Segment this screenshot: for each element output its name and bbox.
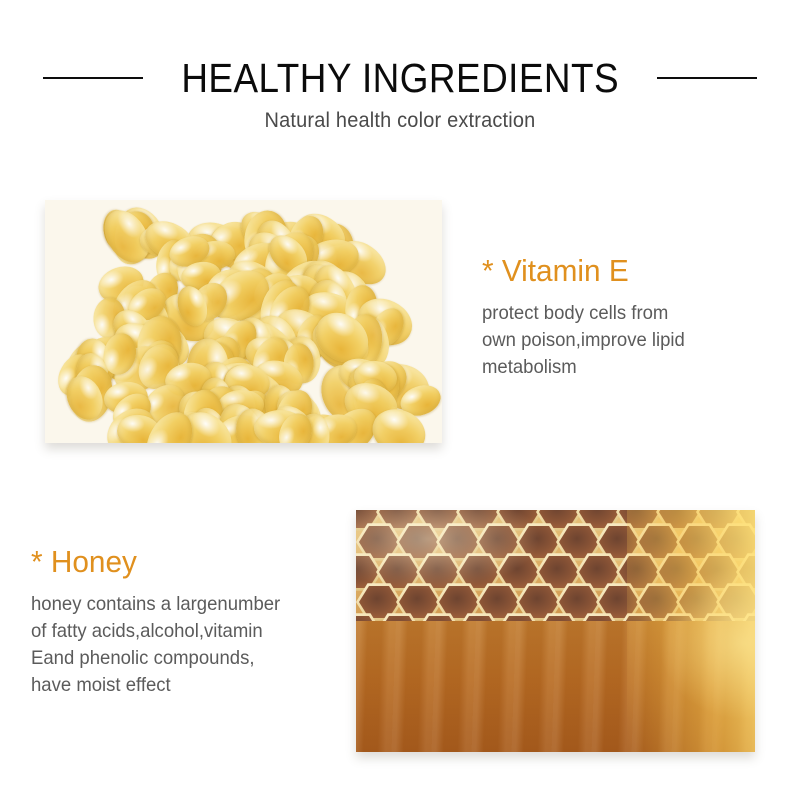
honey-heading: * Honey bbox=[31, 545, 348, 579]
page-header: HEALTHY INGREDIENTS bbox=[0, 52, 800, 104]
vitamin-e-body-line: protect body cells from bbox=[482, 300, 767, 327]
honey-body: honey contains a largenumber of fatty ac… bbox=[31, 591, 345, 699]
header-rule-right bbox=[657, 77, 757, 79]
vitamin-e-body: protect body cells from own poison,impro… bbox=[482, 300, 767, 381]
honey-body-line: Eand phenolic compounds, bbox=[31, 645, 345, 672]
honey-body-line: honey contains a largenumber bbox=[31, 591, 345, 618]
vitamin-e-text-block: * Vitamin E protect body cells from own … bbox=[482, 254, 782, 381]
vitamin-e-heading: * Vitamin E bbox=[482, 254, 770, 288]
vitamin-e-body-line: metabolism bbox=[482, 354, 767, 381]
honey-text-block: * Honey honey contains a largenumber of … bbox=[31, 545, 361, 699]
honey-body-line: have moist effect bbox=[31, 672, 345, 699]
honeycomb-photo bbox=[356, 510, 755, 752]
vitamin-e-body-line: own poison,improve lipid bbox=[482, 327, 767, 354]
honeycomb-sheen bbox=[356, 510, 755, 752]
page-title: HEALTHY INGREDIENTS bbox=[181, 58, 619, 99]
vitamin-e-capsules-photo bbox=[45, 200, 442, 443]
capsule-cluster bbox=[45, 200, 442, 443]
honey-body-line: of fatty acids,alcohol,vitamin bbox=[31, 618, 345, 645]
header-rule-left bbox=[43, 77, 143, 79]
page-subtitle: Natural health color extraction bbox=[20, 109, 780, 133]
